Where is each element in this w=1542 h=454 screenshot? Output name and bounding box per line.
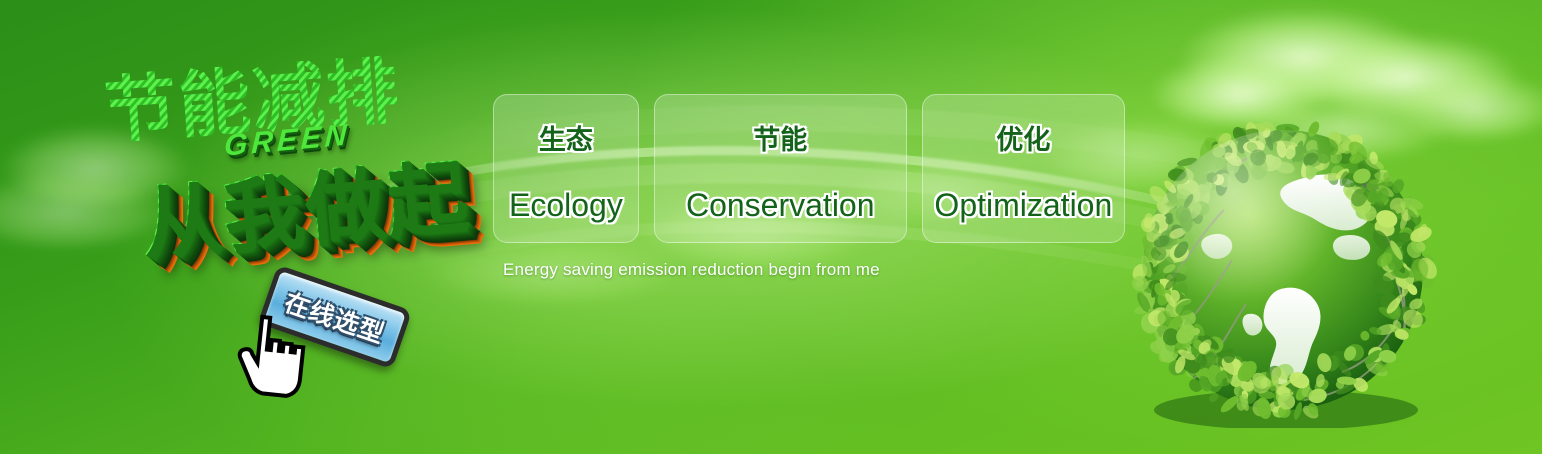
tagline: Energy saving emission reduction begin f… [503,260,880,280]
feature-card-conservation[interactable]: 节能 Conservation [654,94,907,243]
feature-cards: 生态 Ecology 节能 Conservation 优化 Optimizati… [493,94,1125,243]
feature-card-ecology[interactable]: 生态 Ecology [493,94,639,243]
feature-card-en-label: Optimization [934,187,1112,224]
leafy-globe-icon [1128,118,1438,428]
feature-card-cn-label: 节能 [753,118,807,157]
headline-3d: 节能减排 GREEN 从我做起 [96,36,496,266]
feature-card-cn-label: 生态 [539,118,593,157]
feature-card-en-label: Conservation [686,187,875,224]
eco-banner: 节能减排 GREEN 从我做起 生态 Ecology 节能 Conservati… [0,0,1542,454]
feature-card-cn-label: 优化 [996,118,1050,157]
feature-card-en-label: Ecology [509,187,623,224]
headline-line-2: 从我做起 [136,132,473,276]
cta-area: 在线选型 [256,272,426,382]
hand-pointer-icon [230,310,311,405]
feature-card-optimization[interactable]: 优化 Optimization [922,94,1125,243]
